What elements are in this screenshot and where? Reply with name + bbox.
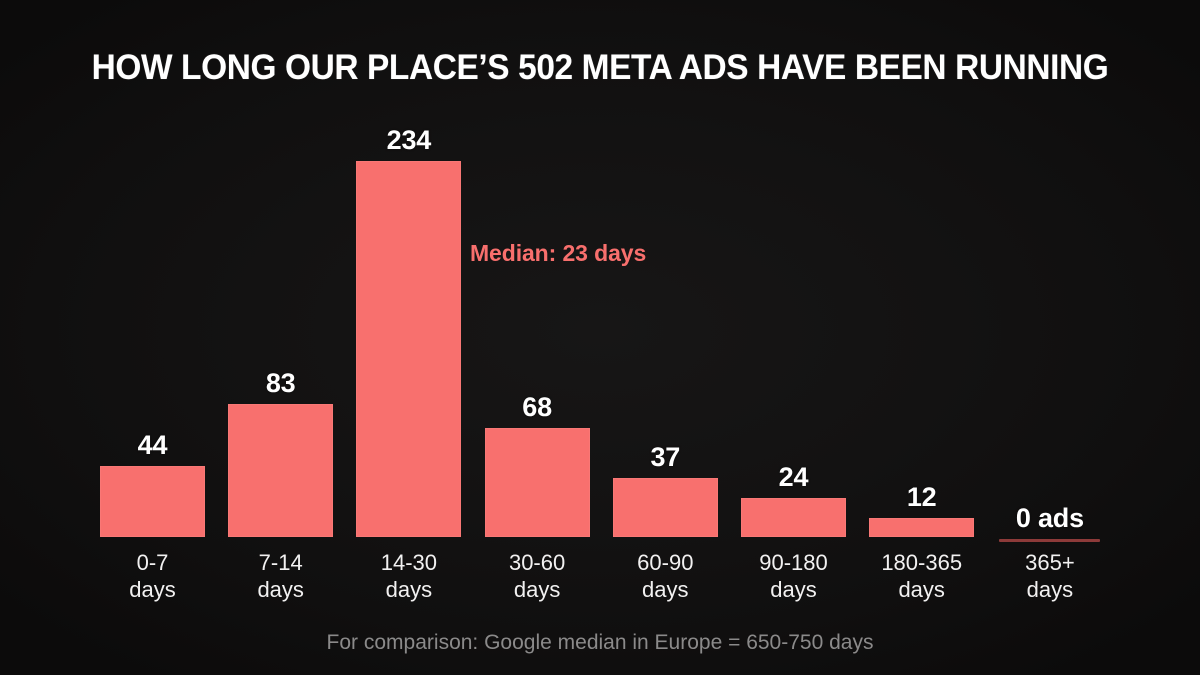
bar-group: 83 (228, 404, 333, 537)
category-label: 365+days (975, 549, 1125, 603)
bar-group: 12 (869, 518, 974, 537)
plot-area: 440-7days837-14days23414-30days6830-60da… (0, 0, 1200, 675)
bar-group: 234 (356, 161, 461, 537)
bar-group: 37 (613, 478, 718, 537)
bar-value-label: 12 (907, 482, 937, 513)
zero-value-line (999, 539, 1100, 542)
bar-value-label: 37 (650, 442, 680, 473)
bar[interactable] (613, 478, 718, 537)
bar-value-label: 83 (266, 368, 296, 399)
bar-group: 68 (485, 428, 590, 537)
bar[interactable] (100, 466, 205, 537)
bar-value-label: 44 (138, 430, 168, 461)
bar-group: 0 ads (997, 537, 1102, 538)
bar-value-label: 68 (522, 392, 552, 423)
bar-group: 24 (741, 498, 846, 537)
bar-value-label: 0 ads (1016, 503, 1084, 534)
bar-value-label: 24 (779, 462, 809, 493)
median-annotation: Median: 23 days (470, 240, 646, 267)
bar[interactable] (869, 518, 974, 537)
bar[interactable] (485, 428, 590, 537)
bar[interactable] (228, 404, 333, 537)
comparison-footnote: For comparison: Google median in Europe … (0, 631, 1200, 655)
bar[interactable] (356, 161, 461, 537)
chart-canvas: HOW LONG OUR PLACE’S 502 META ADS HAVE B… (0, 0, 1200, 675)
bar-group: 44 (100, 466, 205, 537)
bar[interactable] (741, 498, 846, 537)
bar-value-label: 234 (387, 125, 431, 156)
